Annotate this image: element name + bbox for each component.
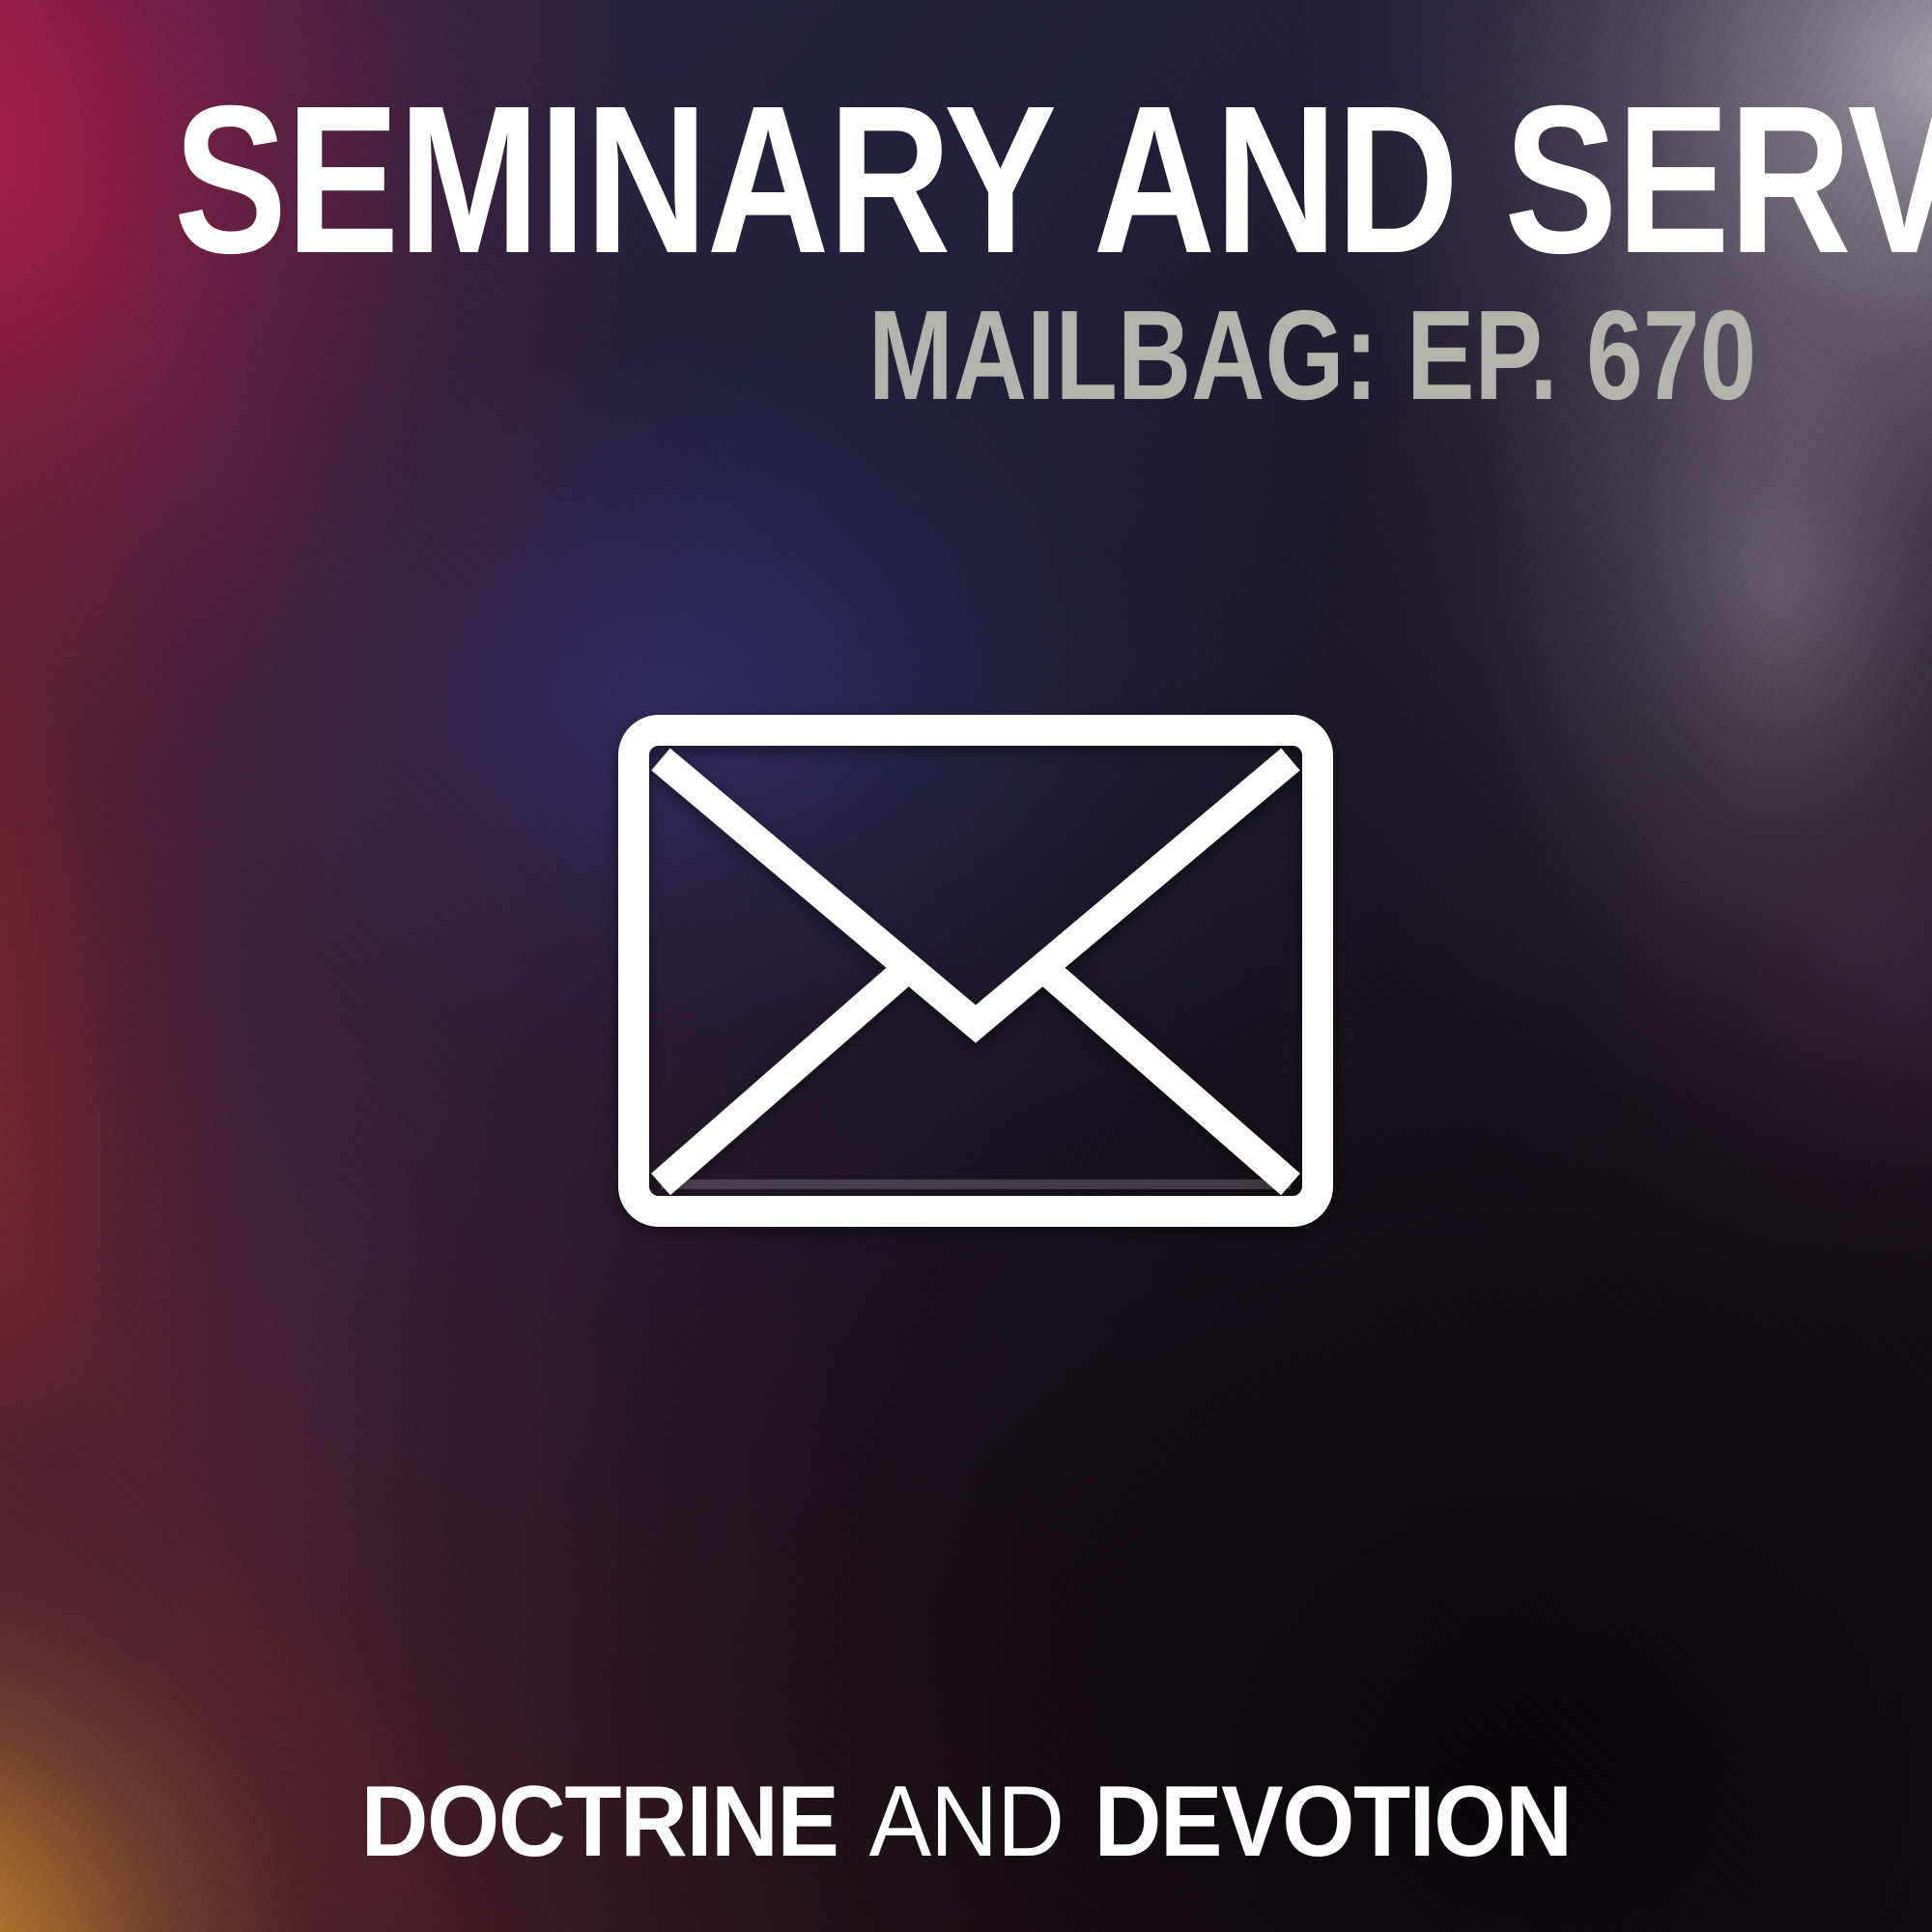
podcast-cover-artwork: SEMINARY AND SERVING MAILBAG: EP. 670 DO… <box>0 0 1932 1932</box>
envelope-fold-left <box>661 968 908 1184</box>
brand-lockup: DOCTRINEANDDEVOTION <box>0 1772 1932 1872</box>
envelope-icon <box>618 715 1333 1227</box>
brand-word-devotion: DEVOTION <box>1094 1772 1572 1872</box>
envelope-body-outline <box>634 730 1318 1211</box>
brand-word-doctrine: DOCTRINE <box>360 1772 838 1872</box>
envelope-icon-svg <box>618 715 1333 1227</box>
envelope-fold-right <box>1043 968 1291 1184</box>
envelope-flap-line <box>661 759 1291 1024</box>
brand-word-and: AND <box>864 1772 1069 1872</box>
episode-subtitle: MAILBAG: EP. 670 <box>868 292 1756 419</box>
page-title: SEMINARY AND SERVING <box>174 75 1449 286</box>
